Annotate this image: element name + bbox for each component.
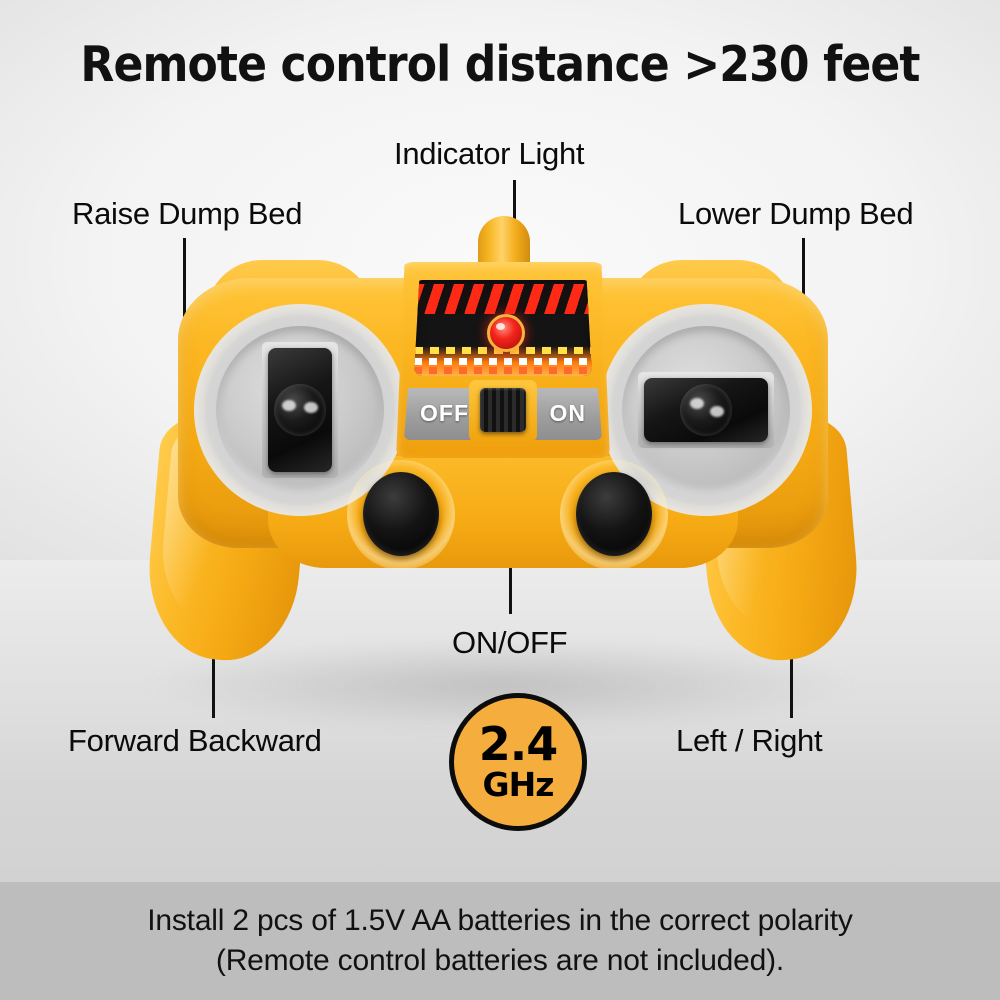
label-raise-dump-bed: Raise Dump Bed [72, 196, 302, 232]
footer-line-2: (Remote control batteries are not includ… [216, 941, 784, 981]
joystick-left-knob[interactable] [274, 384, 326, 436]
dash-row-orange [414, 367, 592, 374]
switch-off-label: OFF [420, 400, 469, 427]
label-left-right: Left / Right [676, 723, 822, 759]
center-console: OFF ON [396, 262, 610, 458]
badge-frequency-value: 2.4 [479, 723, 558, 767]
button-left-right[interactable] [576, 472, 652, 556]
joystick-right-rocker[interactable] [644, 378, 768, 442]
page-title: Remote control distance >230 feet [50, 36, 950, 93]
footer-line-1: Install 2 pcs of 1.5V AA batteries in th… [147, 901, 852, 941]
label-indicator-light: Indicator Light [394, 136, 584, 172]
infographic-canvas: Remote control distance >230 feet Raise … [0, 0, 1000, 1000]
joystick-left-rocker[interactable] [268, 348, 332, 472]
label-lower-dump-bed: Lower Dump Bed [678, 196, 913, 232]
footer-band: Install 2 pcs of 1.5V AA batteries in th… [0, 882, 1000, 1000]
joystick-right-knob[interactable] [680, 384, 732, 436]
frequency-badge: 2.4 GHz [449, 693, 587, 831]
dash-row-white [414, 358, 592, 365]
badge-frequency-unit: GHz [483, 769, 554, 800]
indicator-light-led [487, 314, 525, 352]
switch-on-label: ON [550, 400, 587, 427]
power-switch-toggle[interactable] [480, 388, 526, 432]
remote-controller: OFF ON [148, 246, 858, 676]
label-forward-backward: Forward Backward [68, 723, 322, 759]
button-forward-backward[interactable] [363, 472, 439, 556]
hazard-stripes [414, 284, 592, 314]
